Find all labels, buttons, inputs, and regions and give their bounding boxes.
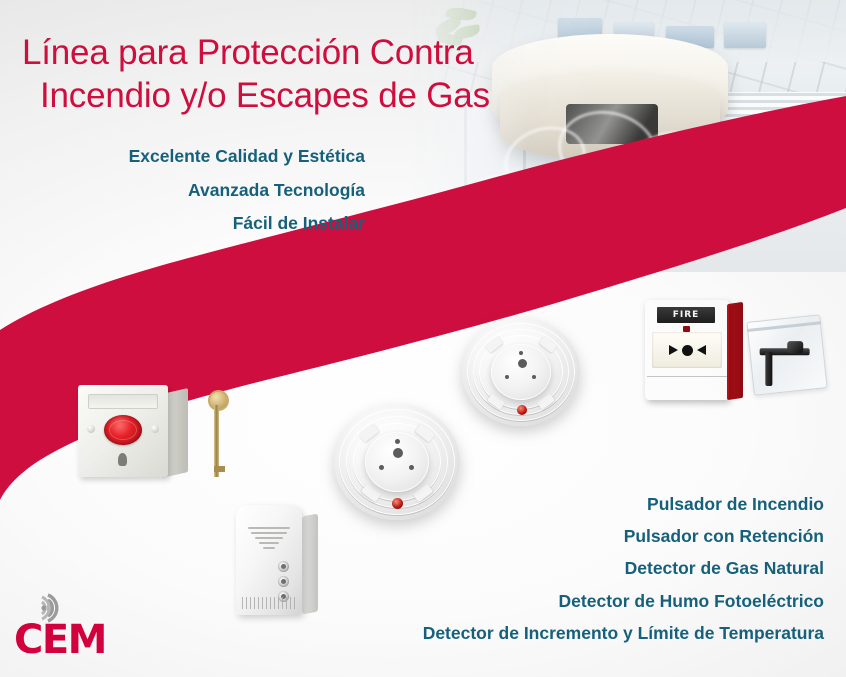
keyhole-icon: [118, 453, 127, 466]
detector-led: [392, 498, 403, 509]
screw-icon: [151, 425, 159, 433]
product-item: Pulsador con Retención: [264, 520, 824, 552]
gas-led-status: [278, 576, 289, 587]
benefits-list: Excelente Calidad y Estética Avanzada Te…: [20, 140, 365, 241]
detector-port: [395, 439, 400, 444]
gas-detector-device: [236, 505, 318, 617]
gas-led-power: [278, 561, 289, 572]
accessory-key-bag: [746, 314, 827, 395]
call-point-face: FIRE: [645, 300, 729, 400]
gas-detector-face: [236, 505, 302, 615]
reset-key: [205, 390, 227, 482]
call-point-press-panel: [652, 332, 722, 368]
detector-center-port: [393, 448, 403, 458]
detector-port: [409, 465, 414, 470]
benefit-item: Fácil de Instalar: [20, 207, 365, 241]
panic-button-red-button: [104, 415, 142, 445]
detector-center-port: [518, 359, 527, 368]
speaker-grille-icon: [248, 527, 290, 551]
detector-port: [519, 351, 523, 355]
detector-port: [505, 375, 509, 379]
screw-icon: [87, 425, 95, 433]
photo-monitor: [724, 22, 766, 48]
panic-button-face: [78, 385, 168, 477]
title-line-2: Incendio y/o Escapes de Gas: [22, 75, 542, 118]
product-banner: Línea para Protección Contra Incendio y/…: [0, 0, 846, 677]
cem-logo: CEM: [14, 591, 122, 665]
fire-label: FIRE: [657, 307, 715, 323]
call-point-seam: [647, 376, 727, 377]
call-point-side: [727, 302, 743, 400]
fire-call-point-device: FIRE: [645, 300, 743, 402]
detector-led: [517, 405, 527, 415]
arrow-left-icon: [697, 345, 706, 355]
title-line-1: Línea para Protección Contra: [22, 33, 474, 72]
detector-port: [379, 465, 384, 470]
page-title: Línea para Protección Contra Incendio y/…: [22, 32, 542, 117]
gas-detector-side: [302, 514, 318, 615]
key-bit: [214, 466, 225, 472]
smoke-detector-upper: [462, 318, 580, 426]
smoke-detector-lower: [334, 404, 460, 520]
product-item: Detector de Humo Fotoeléctrico: [264, 585, 824, 617]
benefit-item: Excelente Calidad y Estética: [20, 140, 365, 174]
product-item: Detector de Incremento y Límite de Tempe…: [264, 617, 824, 649]
test-key-head: [787, 341, 803, 353]
press-dot-icon: [682, 345, 693, 356]
test-key-shaft: [765, 352, 772, 386]
cem-logo-text: CEM: [14, 617, 106, 663]
panic-button-device: [78, 385, 188, 481]
gas-vent-slots: [242, 597, 296, 609]
benefit-item: Avanzada Tecnología: [20, 174, 365, 208]
panic-button-label-slot: [88, 394, 158, 409]
product-item: Detector de Gas Natural: [264, 552, 824, 584]
detector-port: [532, 375, 536, 379]
arrow-right-icon: [669, 345, 678, 355]
